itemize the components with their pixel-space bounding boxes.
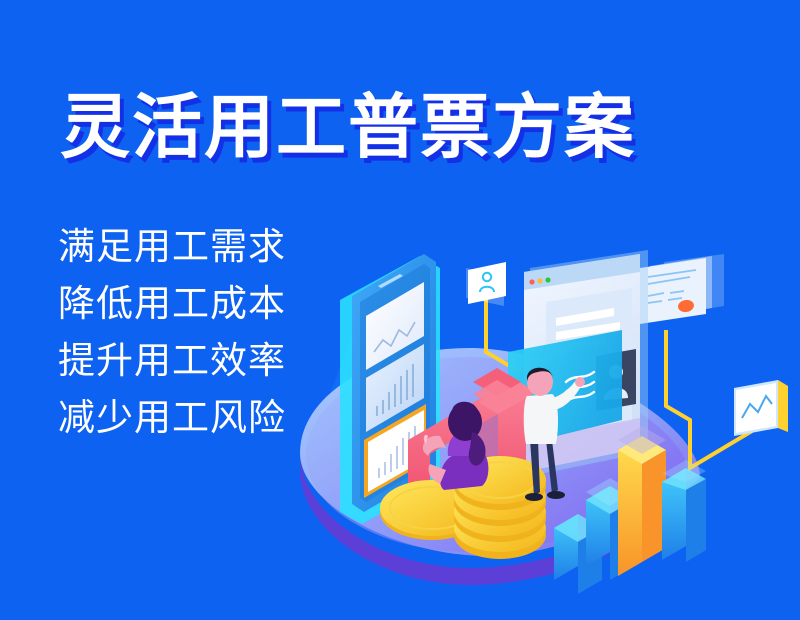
page-title: 灵活用工普票方案: [60, 92, 636, 162]
bar-3-highlight: [618, 426, 666, 576]
line-chart-card: [734, 380, 788, 436]
benefit-item-4: 减少用工风险: [58, 389, 286, 446]
benefit-item-3: 提升用工效率: [58, 332, 286, 389]
poster-root: 灵活用工普票方案 满足用工需求 降低用工成本 提升用工效率 减少用工风险: [0, 0, 800, 620]
benefit-item-1: 满足用工需求: [58, 218, 286, 275]
benefit-item-2: 降低用工成本: [58, 275, 286, 332]
user-avatar-card: [466, 262, 506, 306]
benefit-list: 满足用工需求 降低用工成本 提升用工效率 减少用工风险: [58, 218, 286, 446]
document-card: [640, 254, 724, 324]
